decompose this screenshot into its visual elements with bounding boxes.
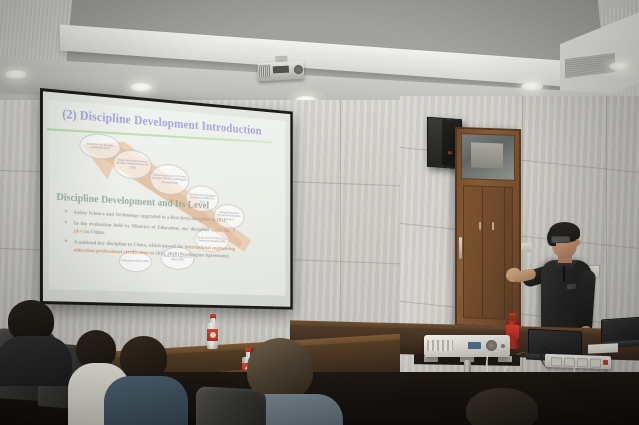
ceiling-projector-icon bbox=[257, 59, 304, 84]
ceiling-downlight bbox=[5, 70, 27, 79]
power-socket[interactable] bbox=[590, 358, 601, 367]
projector-vent bbox=[427, 340, 453, 351]
door-panel-seam bbox=[482, 187, 483, 318]
conference-room-photo: (2) Discipline Development Introduction … bbox=[0, 0, 639, 425]
ceiling-downlight bbox=[521, 82, 543, 91]
presenter-right-arm bbox=[576, 270, 596, 333]
wooden-door[interactable] bbox=[455, 127, 521, 328]
power-socket[interactable] bbox=[577, 358, 588, 367]
door-knob[interactable] bbox=[492, 222, 494, 230]
projector-control-dot bbox=[501, 344, 505, 348]
ceiling-downlight bbox=[130, 83, 152, 92]
door-panel bbox=[463, 185, 513, 320]
door-knob[interactable] bbox=[479, 222, 481, 230]
audience-shoulders bbox=[0, 336, 72, 386]
presenter-glasses bbox=[551, 236, 570, 243]
ceiling-downlight bbox=[609, 62, 631, 71]
audience-head bbox=[120, 336, 167, 380]
audience-head bbox=[466, 388, 538, 425]
slide-bullet-list: Safety Science and Technology upgraded t… bbox=[64, 208, 235, 264]
door-transom-window bbox=[461, 133, 515, 181]
speaker-led-icon bbox=[448, 151, 452, 154]
papers-on-desk bbox=[588, 343, 618, 354]
screen-surface: (2) Discipline Development Introduction … bbox=[43, 91, 290, 307]
bottle-label bbox=[207, 329, 218, 341]
transom-glass-reflection bbox=[471, 142, 502, 169]
projector-vga-port bbox=[468, 342, 481, 349]
portable-projector bbox=[424, 335, 510, 362]
presenter-ear bbox=[575, 239, 580, 246]
door-panel-seam bbox=[504, 188, 505, 319]
projector-vent bbox=[259, 65, 272, 79]
chair-back bbox=[196, 386, 266, 425]
power-indicator-led-icon bbox=[603, 360, 608, 365]
projector-lens bbox=[486, 340, 497, 351]
presenter-shirt-placket bbox=[563, 266, 565, 282]
projector-label-strip bbox=[273, 66, 289, 74]
door-hardware bbox=[479, 222, 501, 231]
door-handle[interactable] bbox=[459, 237, 462, 259]
speaker-side-panel bbox=[428, 118, 442, 167]
projection-screen: (2) Discipline Development Introduction … bbox=[40, 88, 293, 310]
audience-shoulders bbox=[104, 376, 188, 425]
presentation-slide: (2) Discipline Development Introduction … bbox=[49, 100, 286, 296]
